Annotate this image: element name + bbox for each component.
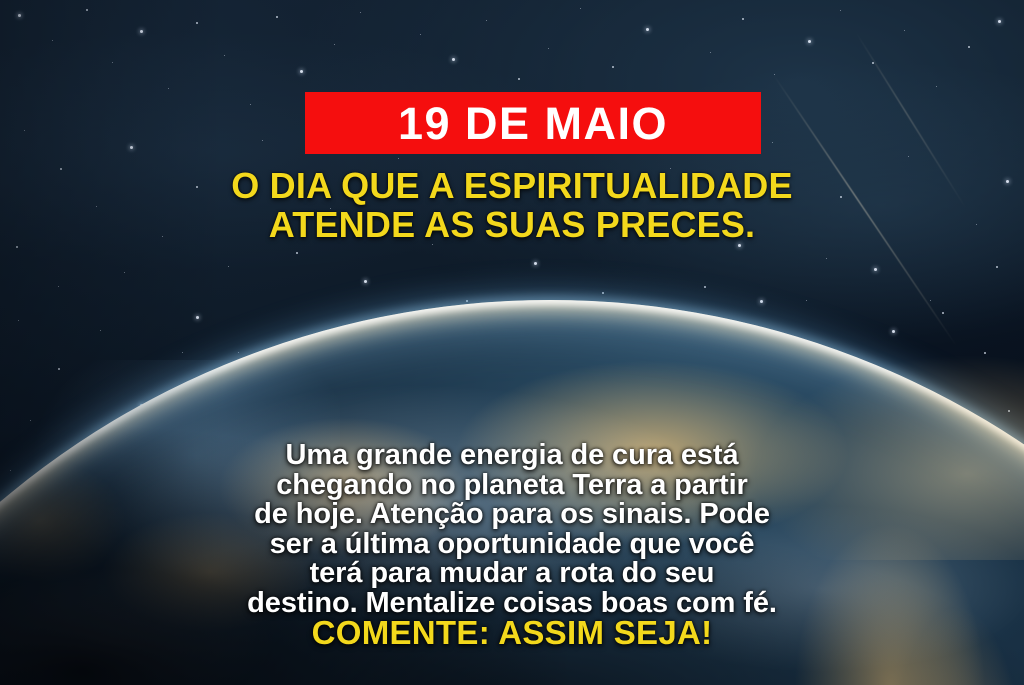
social-media-poster: 19 DE MAIO O DIA QUE A ESPIRITUALIDADE A… — [0, 0, 1024, 685]
poster-content: 19 DE MAIO O DIA QUE A ESPIRITUALIDADE A… — [0, 0, 1024, 685]
body-line-5: terá para mudar a rota do seu — [0, 559, 1024, 589]
call-to-action-text: COMENTE: ASSIM SEJA! — [0, 615, 1024, 651]
date-banner-text: 19 DE MAIO — [398, 101, 668, 146]
body-line-3: de hoje. Atenção para os sinais. Pode — [0, 500, 1024, 530]
headline: O DIA QUE A ESPIRITUALIDADE ATENDE AS SU… — [0, 166, 1024, 244]
body-line-4: ser a última oportunidade que você — [0, 530, 1024, 560]
body-copy: Uma grande energia de cura está chegando… — [0, 441, 1024, 618]
headline-line-2: ATENDE AS SUAS PRECES. — [0, 205, 1024, 244]
date-banner: 19 DE MAIO — [305, 92, 761, 154]
body-line-2: chegando no planeta Terra a partir — [0, 471, 1024, 501]
headline-line-1: O DIA QUE A ESPIRITUALIDADE — [0, 166, 1024, 205]
body-line-1: Uma grande energia de cura está — [0, 441, 1024, 471]
